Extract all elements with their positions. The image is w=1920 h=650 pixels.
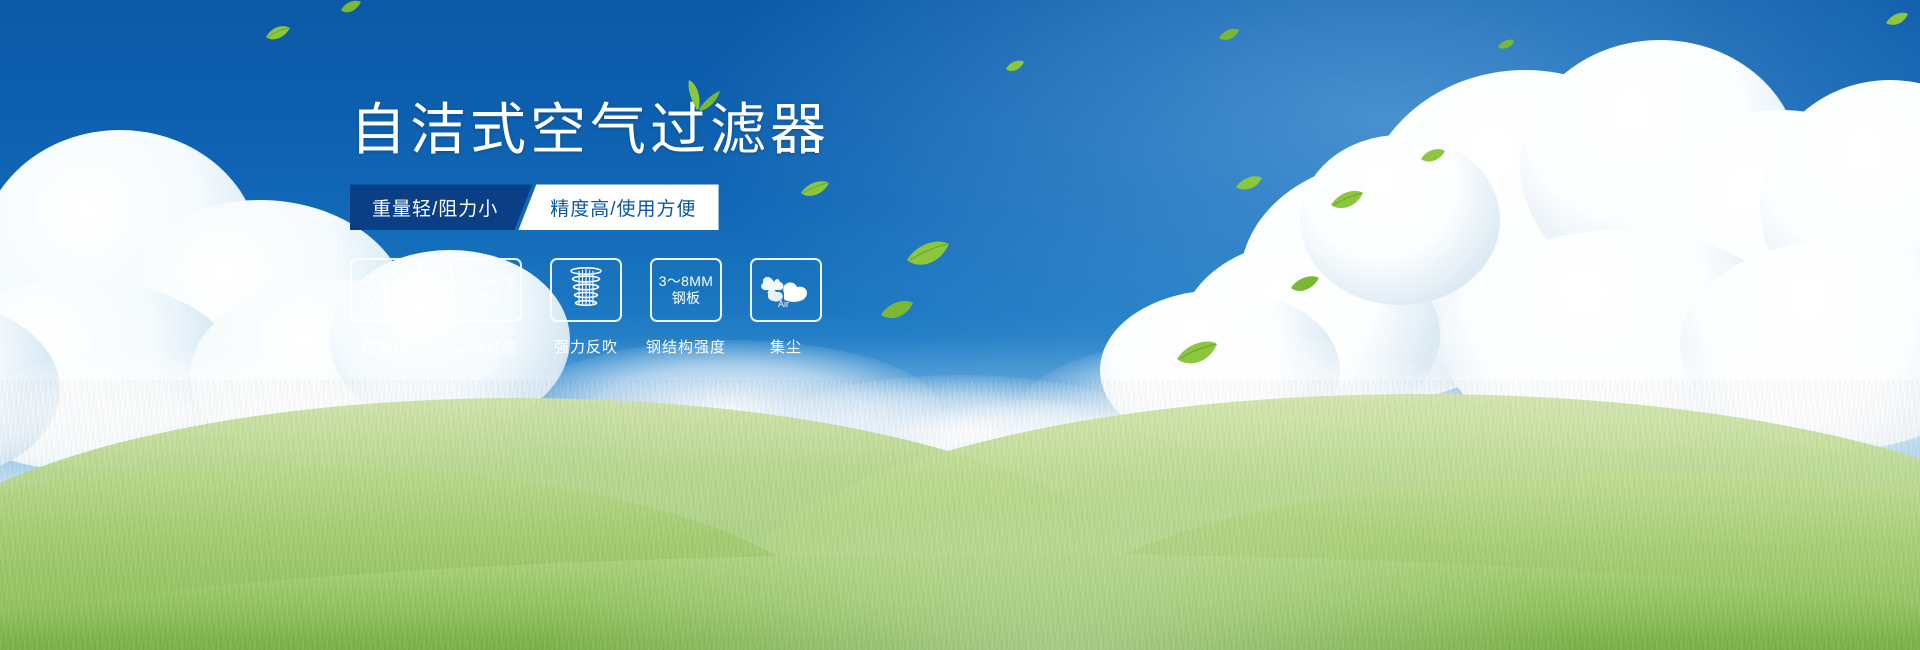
feature-label: 二级过滤 (454, 336, 518, 357)
pill-label: 精度高/使用方便 (550, 194, 696, 221)
feature-item-blowback: 强力反吹 (550, 258, 622, 357)
leaf-icon (1290, 275, 1320, 300)
feature-box: 0.6〜0.8 MPA (450, 258, 522, 322)
feature-box-line2: 钢板 (672, 290, 701, 308)
feature-box-line1: 3〜8MM (659, 273, 713, 291)
gauge-icon: NO OFF (363, 268, 409, 312)
feature-box-line2: MPA (471, 290, 501, 308)
feature-label: 强力反吹 (554, 336, 618, 357)
leaf-icon (1218, 28, 1240, 48)
feature-pill-group: 重量轻/阻力小 精度高/使用方便 (350, 184, 1110, 230)
feature-item-dust-collection: Air 集尘 (750, 258, 822, 357)
feature-item-controller: NO OFF 控制仪 (350, 258, 422, 357)
leaf-icon (1885, 12, 1909, 33)
filter-cartridge-icon (566, 265, 606, 316)
title-leaf-icon (675, 78, 721, 117)
dust-cloud-icon: Air (760, 270, 812, 310)
svg-text:NO: NO (370, 289, 379, 295)
leaf-icon (1005, 60, 1025, 79)
leaf-icon (1420, 148, 1446, 170)
feature-box: Air (750, 258, 822, 322)
leaf-icon (1330, 190, 1364, 217)
feature-box-line1: 0.6〜0.8 (458, 273, 513, 291)
feature-box: 3〜8MM 钢板 (650, 258, 722, 322)
leaf-icon (1235, 175, 1263, 198)
leaf-icon (1497, 38, 1515, 56)
feature-label: 钢结构强度 (646, 336, 726, 357)
leaf-icon (265, 25, 291, 48)
pill-label: 重量轻/阻力小 (372, 194, 498, 221)
page-title: 自洁式空气过滤器 (350, 100, 1110, 160)
pill-precision-convenience: 精度高/使用方便 (518, 184, 718, 230)
feature-label: 集尘 (770, 336, 802, 357)
feature-label: 控制仪 (362, 336, 410, 357)
svg-text:OFF: OFF (394, 304, 404, 310)
leaf-icon (340, 0, 362, 21)
banner-content: 自洁式空气过滤器 重量轻/阻力小 精度高/使用方便 (350, 100, 1110, 357)
pill-weight-resistance: 重量轻/阻力小 (350, 184, 532, 230)
product-banner: 自洁式空气过滤器 重量轻/阻力小 精度高/使用方便 (0, 0, 1920, 650)
grass-field (0, 380, 1920, 650)
svg-text:Air: Air (778, 299, 789, 309)
feature-item-steel-strength: 3〜8MM 钢板 钢结构强度 (650, 258, 722, 357)
feature-box (550, 258, 622, 322)
feature-box: NO OFF (350, 258, 422, 322)
leaf-icon (1175, 340, 1219, 373)
feature-icon-row: NO OFF 控制仪 0.6〜0.8 MPA 二级过滤 (350, 258, 1110, 357)
feature-item-pressure: 0.6〜0.8 MPA 二级过滤 (450, 258, 522, 357)
